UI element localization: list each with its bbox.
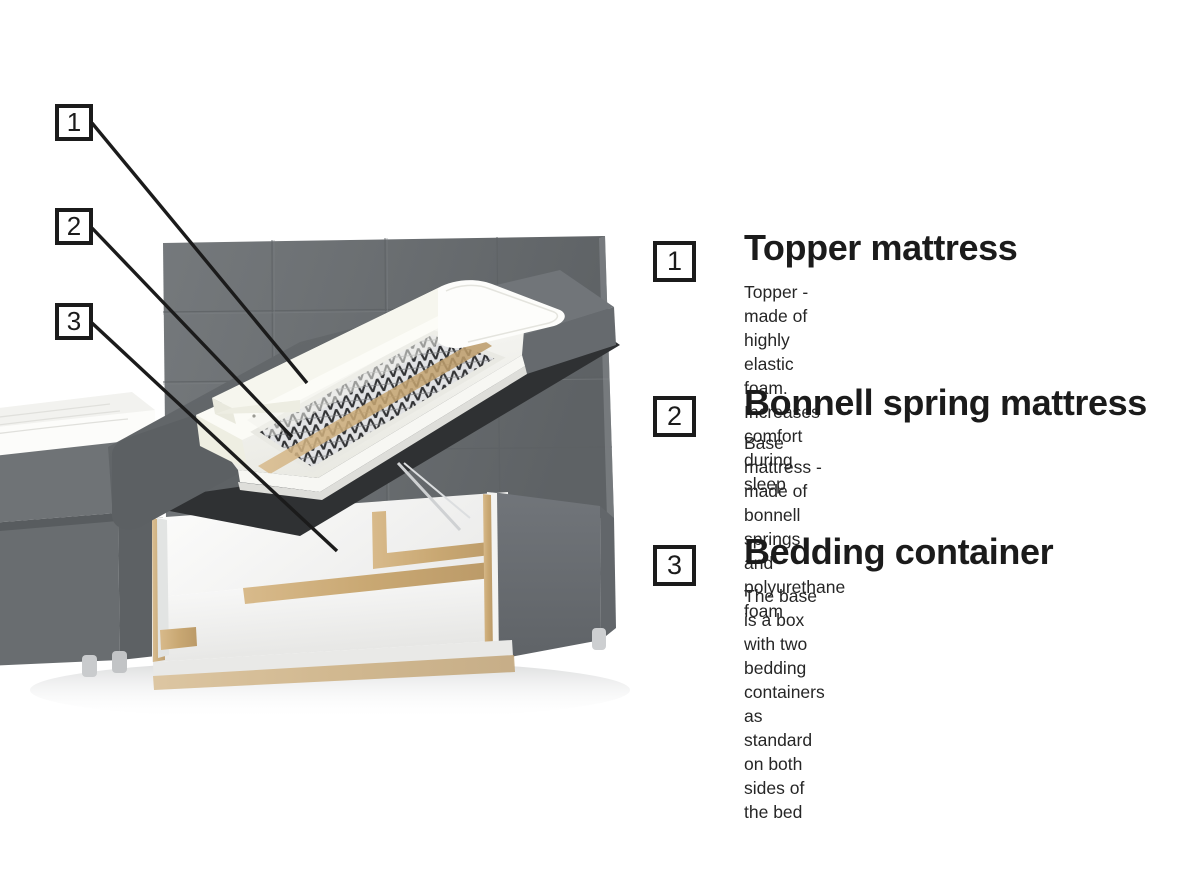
legend-badge-2-number: 2: [667, 401, 682, 432]
legend-desc-3: The base is a box with two bedding conta…: [744, 584, 825, 824]
callout-badge-2: 2: [55, 208, 93, 245]
legend-badge-2: 2: [653, 396, 696, 437]
legend-badge-1-number: 1: [667, 246, 682, 277]
legend-badge-3-number: 3: [667, 550, 682, 581]
callout-badge-1: 1: [55, 104, 93, 141]
callout-badge-2-number: 2: [67, 211, 81, 242]
legend-title-3: Bedding container: [744, 531, 1053, 573]
callout-badge-3: 3: [55, 303, 93, 340]
legend-badge-1: 1: [653, 241, 696, 282]
callout-badge-1-number: 1: [67, 107, 81, 138]
legend-title-2: Bonnell spring mattress: [744, 382, 1147, 424]
legend-title-1: Topper mattress: [744, 227, 1017, 269]
diagram-canvas: 1 2 3 1 Topper mattress Topper - made of…: [0, 0, 1200, 869]
bedding-container: [152, 492, 616, 690]
boxspring-bed-illustration: [0, 0, 700, 760]
legend-badge-3: 3: [653, 545, 696, 586]
callout-badge-3-number: 3: [67, 306, 81, 337]
